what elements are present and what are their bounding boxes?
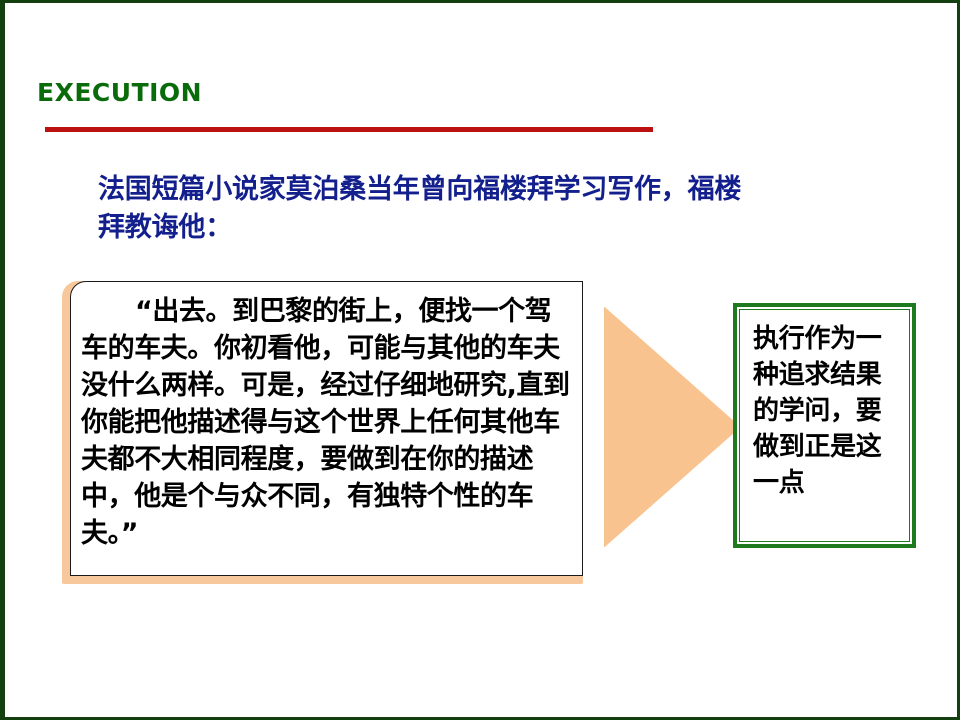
right-arrow-icon <box>604 307 740 547</box>
page-title: EXECUTION <box>37 78 202 107</box>
result-text: 执行作为一种追求结果的学问，要做到正是这一点 <box>753 321 905 501</box>
quote-card: “出去。到巴黎的街上，便找一个驾车的车夫。你初看他，可能与其他的车夫没什么两样。… <box>62 281 583 584</box>
lead-paragraph: 法国短篇小说家莫泊桑当年曾向福楼拜学习写作，福楼拜教诲他： <box>98 171 758 247</box>
title-underline-rule <box>45 127 653 132</box>
slide: EXECUTION 法国短篇小说家莫泊桑当年曾向福楼拜学习写作，福楼拜教诲他： … <box>0 0 960 720</box>
quote-card-body: “出去。到巴黎的街上，便找一个驾车的车夫。你初看他，可能与其他的车夫没什么两样。… <box>70 281 583 576</box>
result-callout-box: 执行作为一种追求结果的学问，要做到正是这一点 <box>733 303 916 548</box>
quote-text: “出去。到巴黎的街上，便找一个驾车的车夫。你初看他，可能与其他的车夫没什么两样。… <box>81 293 576 552</box>
slide-left-accent-bar <box>0 0 5 720</box>
